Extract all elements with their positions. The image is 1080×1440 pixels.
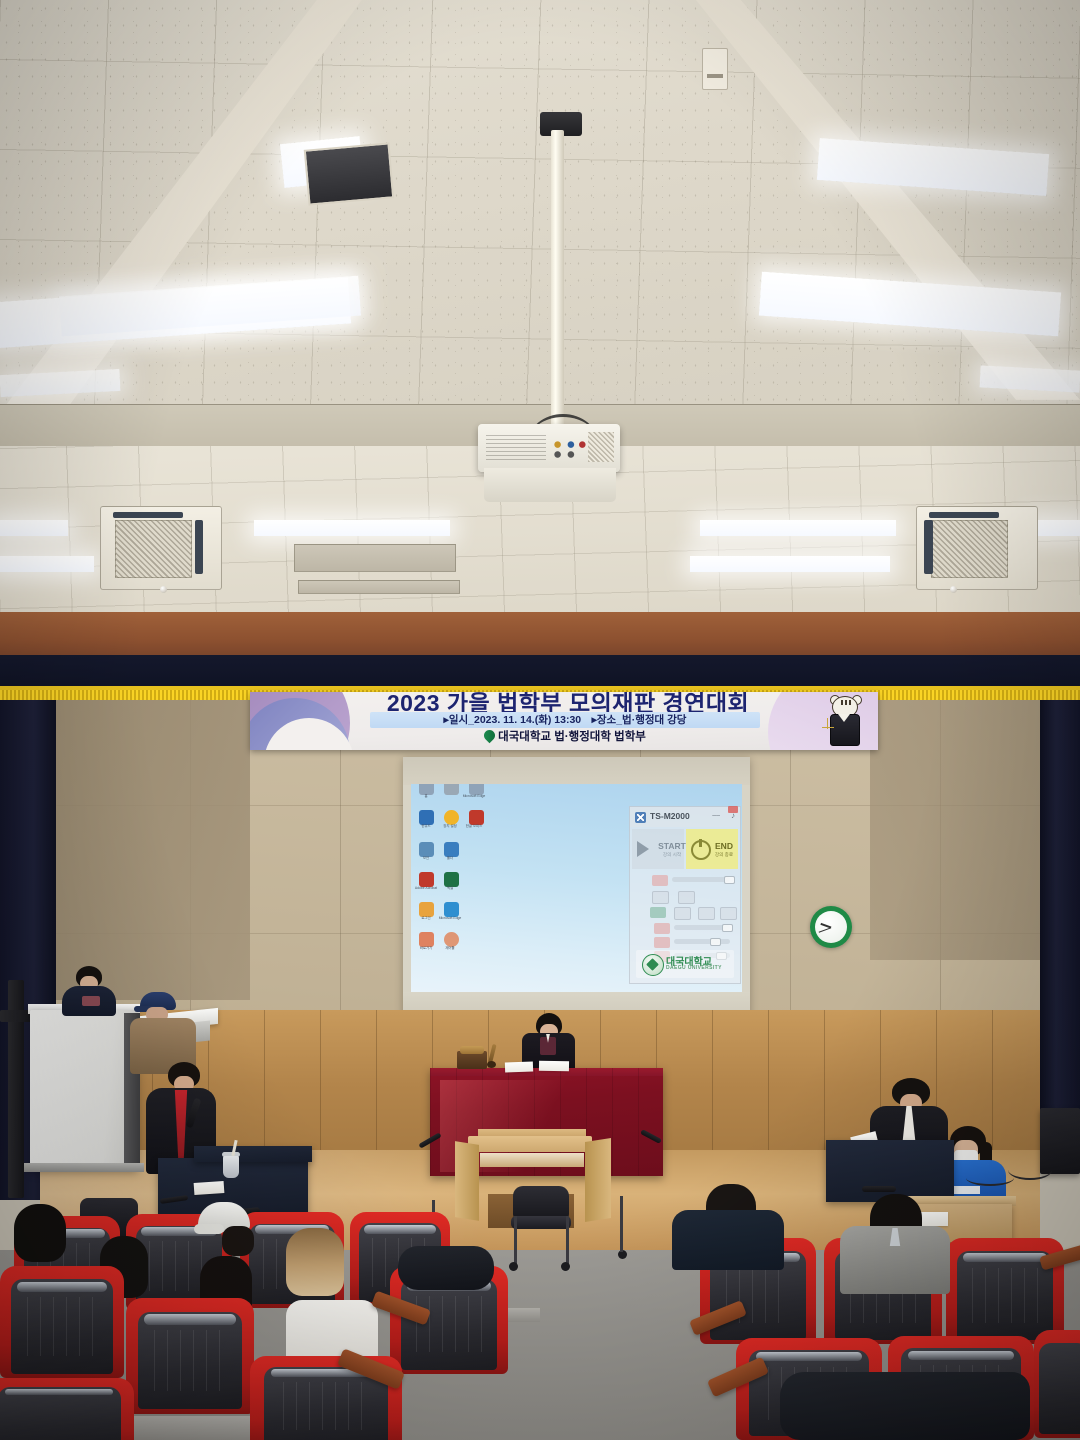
seat[interactable] <box>1034 1330 1080 1438</box>
scales-of-justice-icon <box>822 718 834 734</box>
judge-document <box>505 1062 533 1073</box>
seat-highlight <box>5 1389 113 1396</box>
ac-louver <box>929 512 999 518</box>
stage-wall-shadow-left <box>40 700 250 1000</box>
ceiling-vent <box>294 544 456 572</box>
table-microphone <box>862 1186 896 1192</box>
desktop-icon[interactable] <box>444 784 459 795</box>
panel-button[interactable] <box>678 891 695 904</box>
ac-louver <box>195 520 203 574</box>
chair-caster <box>561 1262 570 1271</box>
desktop-icon[interactable] <box>444 872 459 887</box>
seat-creases <box>27 1297 96 1355</box>
desktop-icon-label: 로그인 <box>413 916 439 920</box>
ceiling-light-panel <box>700 520 896 536</box>
music-note-icon[interactable]: ♪ <box>731 811 735 820</box>
desktop-icon[interactable] <box>444 902 459 917</box>
desktop-icon-label: Microsoft Edge <box>461 794 487 798</box>
minimize-icon[interactable]: –– <box>712 812 720 819</box>
gavel-knob <box>487 1061 496 1068</box>
projected-desktop: 홈 한워드 보안 Adobe Acrobat 로그인 바로가기 장치 설정 폴더… <box>411 784 742 992</box>
witness-stand-left-panel <box>455 1141 479 1221</box>
panel-button[interactable] <box>698 907 715 920</box>
desktop-icon[interactable] <box>419 842 434 857</box>
sprinkler-head <box>160 586 167 593</box>
speaker-cable <box>1008 1160 1052 1180</box>
desktop-icon-label: Microsoft Edge <box>437 916 463 920</box>
projector-label <box>486 434 546 460</box>
volume-slider[interactable] <box>672 877 730 882</box>
seat-highlight <box>144 1314 236 1324</box>
seat-highlight <box>756 1352 861 1361</box>
screen-top-border <box>403 757 750 785</box>
seat-creases <box>972 1268 1038 1323</box>
cap-brim <box>194 1224 224 1234</box>
panel-chip <box>654 937 670 948</box>
ac-grill <box>115 520 191 578</box>
tiger-judge-mascot-icon <box>822 696 868 748</box>
audience-hair <box>286 1228 344 1296</box>
ts-m2000-control-panel[interactable]: TS-M2000 –– ♪ START 강의 시작 END 강의 종료 <box>629 806 741 984</box>
ceiling-light-panel <box>0 520 68 536</box>
event-banner: 2023 가을 법학부 모의재판 경연대회 ▸일시_2023. 11. 14.(… <box>250 692 878 750</box>
desktop-icon-label: 장치 설정 <box>437 824 463 828</box>
podium <box>30 1010 138 1170</box>
level-slider[interactable] <box>674 939 730 944</box>
settings-icon <box>635 812 646 823</box>
sprinkler-head <box>950 586 957 593</box>
audience-hair <box>14 1204 66 1262</box>
coat-on-seat <box>780 1372 1030 1440</box>
desktop-icon[interactable] <box>419 810 434 825</box>
podium-base <box>24 1163 144 1172</box>
judge-document <box>539 1061 569 1072</box>
audience-member-dark-jacket <box>672 1184 786 1270</box>
audience-member <box>14 1204 76 1268</box>
mascot-stripe <box>845 700 847 705</box>
ceiling-light-panel <box>690 556 890 572</box>
mascot-stripe <box>849 700 851 705</box>
panel-button[interactable] <box>720 907 737 920</box>
mascot-stripe <box>841 700 843 705</box>
start-button[interactable]: START 강의 시작 <box>632 829 684 869</box>
ceiling-vent <box>298 580 460 594</box>
projector-vent <box>588 432 614 462</box>
speaker-cable <box>966 1170 1014 1186</box>
chair-leg <box>620 1196 623 1252</box>
end-button-label: END <box>698 841 742 851</box>
audience-jacket <box>672 1210 784 1270</box>
desktop-icon-label: 한글 오피스 <box>461 824 487 828</box>
slider-knob[interactable] <box>710 938 721 946</box>
desktop-icon-label: 한워드 <box>413 824 439 828</box>
ceiling-speaker <box>304 142 395 205</box>
operator-shirt-graphic <box>82 996 100 1006</box>
auditorium-photo: 2023 가을 법학부 모의재판 경연대회 ▸일시_2023. 11. 14.(… <box>0 0 1080 1440</box>
ac-cassette-unit <box>916 506 1038 590</box>
chair-back <box>513 1186 569 1220</box>
ac-louver <box>924 520 932 574</box>
stage-wall-shadow-right <box>870 700 1040 960</box>
witness-stand-desk <box>480 1153 584 1167</box>
stage-curtain-right <box>1040 700 1080 1170</box>
projector-ports <box>550 438 588 460</box>
defense-document <box>194 1181 225 1195</box>
audience-member-cap <box>194 1202 270 1258</box>
seat[interactable] <box>0 1266 124 1378</box>
ac-louver <box>113 512 183 518</box>
desktop-icon[interactable] <box>469 810 484 825</box>
audience-hair <box>222 1226 254 1256</box>
panel-chip <box>654 923 670 934</box>
banner-organizer: 대국대학교 법·행정대학 법학부 <box>498 731 646 743</box>
audience-member-suit <box>840 1194 952 1294</box>
desktop-icon[interactable] <box>419 932 434 947</box>
desktop-icon[interactable] <box>444 810 459 825</box>
seat-creases <box>283 1382 368 1430</box>
seat[interactable] <box>126 1298 254 1414</box>
ac-cassette-unit <box>100 506 222 590</box>
smoke-detector <box>702 48 728 90</box>
desktop-icon-label: 바로가기 <box>413 946 439 950</box>
wall-clock <box>810 906 852 948</box>
seat[interactable] <box>0 1378 134 1440</box>
panel-title: TS-M2000 <box>650 811 690 821</box>
ceiling-light-panel <box>254 520 450 536</box>
drink-cup <box>223 1156 239 1178</box>
desktop-icon-label: 홈 <box>413 794 439 798</box>
clock-minute-hand <box>819 927 832 933</box>
uniform-name-tag <box>952 1186 980 1194</box>
panel-chip <box>652 875 668 886</box>
projector-pole <box>551 130 564 430</box>
daegu-univ-logo: 대국대학교 DAEGU UNIVERSITY <box>636 950 734 978</box>
desktop-icon[interactable] <box>419 872 434 887</box>
desktop-icon-label: 폴더 <box>437 856 463 860</box>
seat-highlight <box>908 1351 1013 1360</box>
seat-back <box>0 1387 121 1440</box>
projector-body <box>478 424 620 472</box>
ceiling-light-panel <box>0 556 94 572</box>
defense-table <box>194 1146 312 1162</box>
end-button-sublabel: 강의 종료 <box>698 852 742 858</box>
seat-creases <box>154 1330 226 1390</box>
chair-leg <box>566 1216 569 1268</box>
seat-highlight <box>963 1253 1048 1263</box>
banner-subline: ▸일시_2023. 11. 14.(화) 13:30 ▸장소_법·행정대 강당 <box>374 712 756 728</box>
ac-grill <box>931 520 1007 578</box>
seat-creases <box>416 1296 482 1352</box>
prosecution-table <box>826 1140 954 1202</box>
seated-staff-cap <box>134 992 198 1072</box>
seat-highlight <box>17 1282 106 1292</box>
desktop-icon-label: 보안 <box>413 856 439 860</box>
seat-back <box>1039 1343 1080 1434</box>
seat-highlight <box>364 1225 436 1233</box>
chair-leg <box>514 1216 517 1268</box>
podium-operator <box>62 966 116 1014</box>
desktop-icon[interactable] <box>444 932 459 947</box>
panel-button[interactable] <box>674 907 691 920</box>
desktop-icon[interactable] <box>444 842 459 857</box>
logo-text-en: DAEGU UNIVERSITY <box>666 965 722 971</box>
audience-member <box>286 1228 356 1302</box>
slider-knob[interactable] <box>722 924 733 932</box>
daegu-univ-logo-icon <box>642 954 664 976</box>
chair-caster <box>509 1262 518 1271</box>
chair-seat <box>511 1216 571 1229</box>
clock-face <box>815 911 847 943</box>
desktop-icon-label: 제어톨 <box>437 946 463 950</box>
witness-stand-top <box>468 1136 592 1152</box>
desktop-icon-label: 엑셀 <box>437 886 463 890</box>
coat-on-seat <box>398 1246 494 1290</box>
panel-button[interactable] <box>652 891 669 904</box>
projector-lower-housing <box>484 468 616 502</box>
panel-chip <box>650 907 666 918</box>
projection-screen: 홈 한워드 보안 Adobe Acrobat 로그인 바로가기 장치 설정 폴더… <box>403 757 750 1019</box>
slider-knob[interactable] <box>724 876 735 884</box>
daegu-univ-logo-icon <box>482 728 498 744</box>
desktop-icon[interactable] <box>419 902 434 917</box>
gavel-head <box>460 1046 484 1054</box>
desktop-icon-label: Adobe Acrobat <box>413 886 439 890</box>
end-button[interactable]: END 강의 종료 <box>686 829 738 869</box>
banner-organizer-row: 대국대학교 법·행정대학 법학부 <box>370 729 760 745</box>
witness-stand-right-panel <box>585 1138 611 1222</box>
